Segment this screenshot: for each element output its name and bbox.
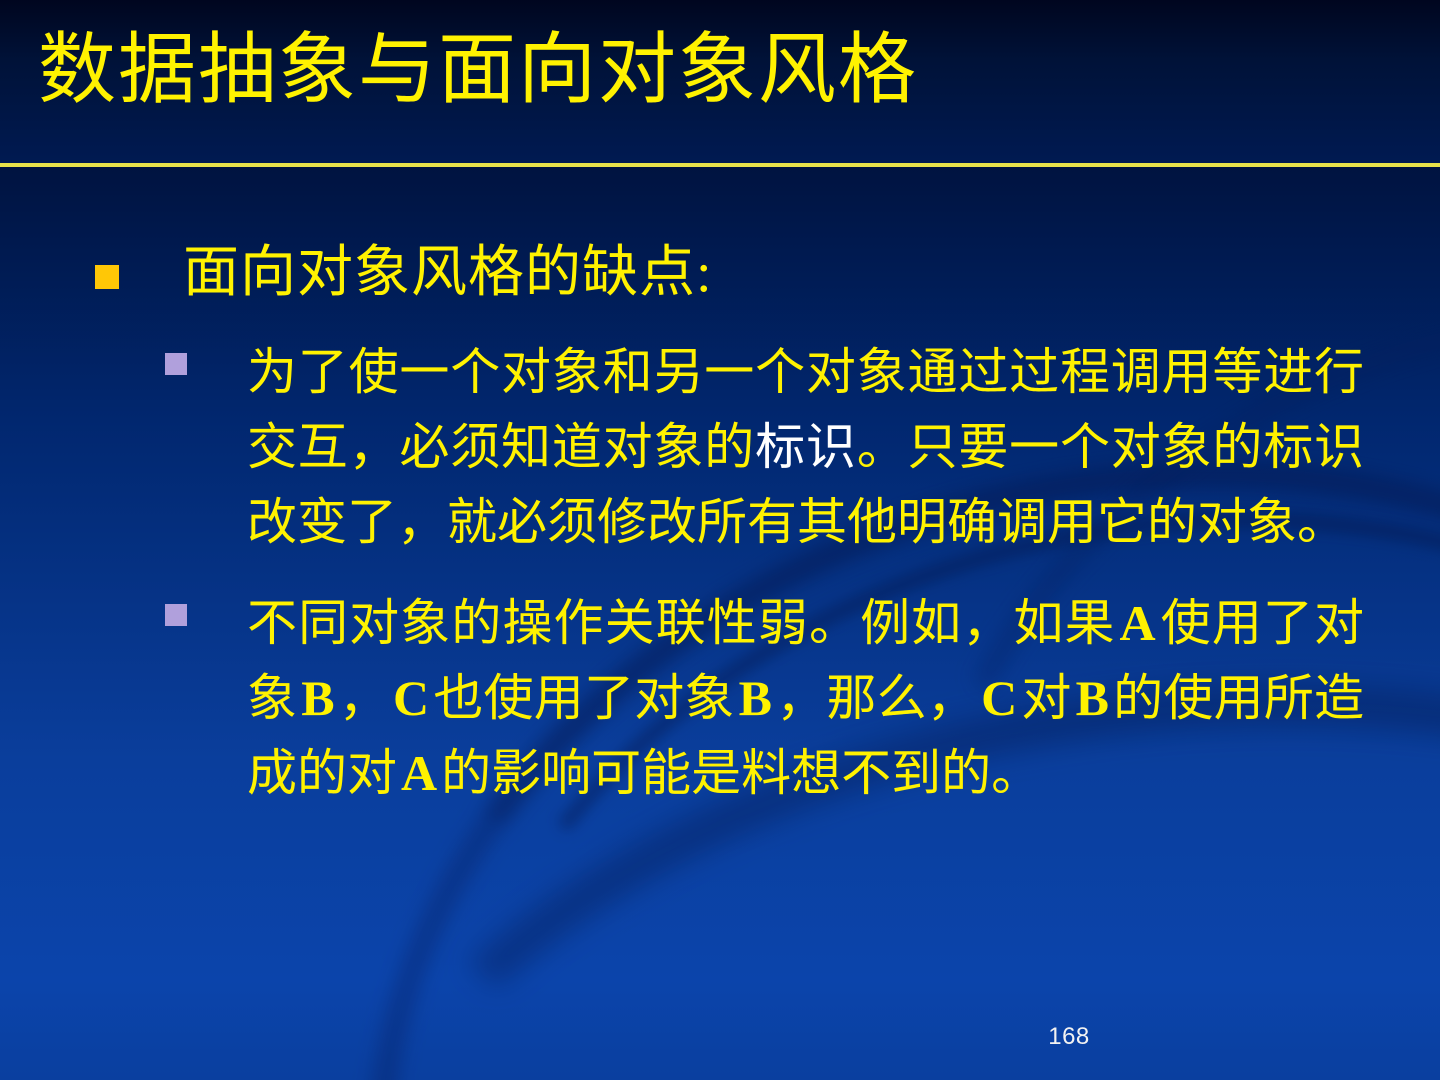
square-bullet-icon: [165, 604, 187, 626]
bullet-level2-paragraph-2: 不同对象的操作关联性弱。例如，如果A使用了对象B，C也使用了对象B，那么，C对B…: [247, 586, 1364, 811]
object-label-c-2: C: [977, 670, 1021, 726]
object-label-b-3: B: [1072, 670, 1113, 726]
bullet-level1-item: 面向对象风格的缺点:: [0, 175, 1440, 309]
slide-body: 面向对象风格的缺点: 为了使一个对象和另一个对象通过过程调用等进行交互，必须知道…: [0, 175, 1440, 995]
object-label-b-1: B: [297, 670, 338, 726]
bullet-level1-label: 面向对象风格的缺点:: [183, 175, 1440, 309]
slide-canvas: 数据抽象与面向对象风格 面向对象风格的缺点: 为了使一个对象和另一个对象通过过程…: [0, 0, 1440, 1080]
paragraph-2-segment-6: 对: [1021, 670, 1071, 726]
paragraph-2-segment-4: 也使用了对象: [433, 670, 735, 726]
bullet-level2-paragraph-1: 为了使一个对象和另一个对象通过过程调用等进行交互，必须知道对象的标识。只要一个对…: [247, 335, 1364, 560]
paragraph-2-segment-8: 的影响可能是料想不到的。: [441, 745, 1041, 801]
page-number: 168: [349, 1022, 1440, 1052]
square-bullet-icon: [95, 265, 119, 289]
slide-header: 数据抽象与面向对象风格: [0, 0, 1440, 163]
object-label-a-1: A: [1116, 595, 1160, 651]
paragraph-2-segment-1: 不同对象的操作关联性弱。例如，如果: [247, 595, 1116, 651]
paragraph-2-segment-5: ，那么，: [776, 670, 977, 726]
square-bullet-icon: [165, 353, 187, 375]
title-divider-rule: [0, 163, 1440, 167]
object-label-a-2: A: [397, 745, 441, 801]
paragraph-1-emphasis: 标识: [755, 419, 857, 475]
object-label-b-2: B: [735, 670, 776, 726]
bullet-level2-item: 为了使一个对象和另一个对象通过过程调用等进行交互，必须知道对象的标识。只要一个对…: [0, 335, 1440, 560]
paragraph-2-segment-3: ，: [339, 670, 389, 726]
bullet-level2-item: 不同对象的操作关联性弱。例如，如果A使用了对象B，C也使用了对象B，那么，C对B…: [0, 586, 1440, 811]
slide-title: 数据抽象与面向对象风格: [38, 20, 918, 120]
object-label-c-1: C: [389, 670, 433, 726]
